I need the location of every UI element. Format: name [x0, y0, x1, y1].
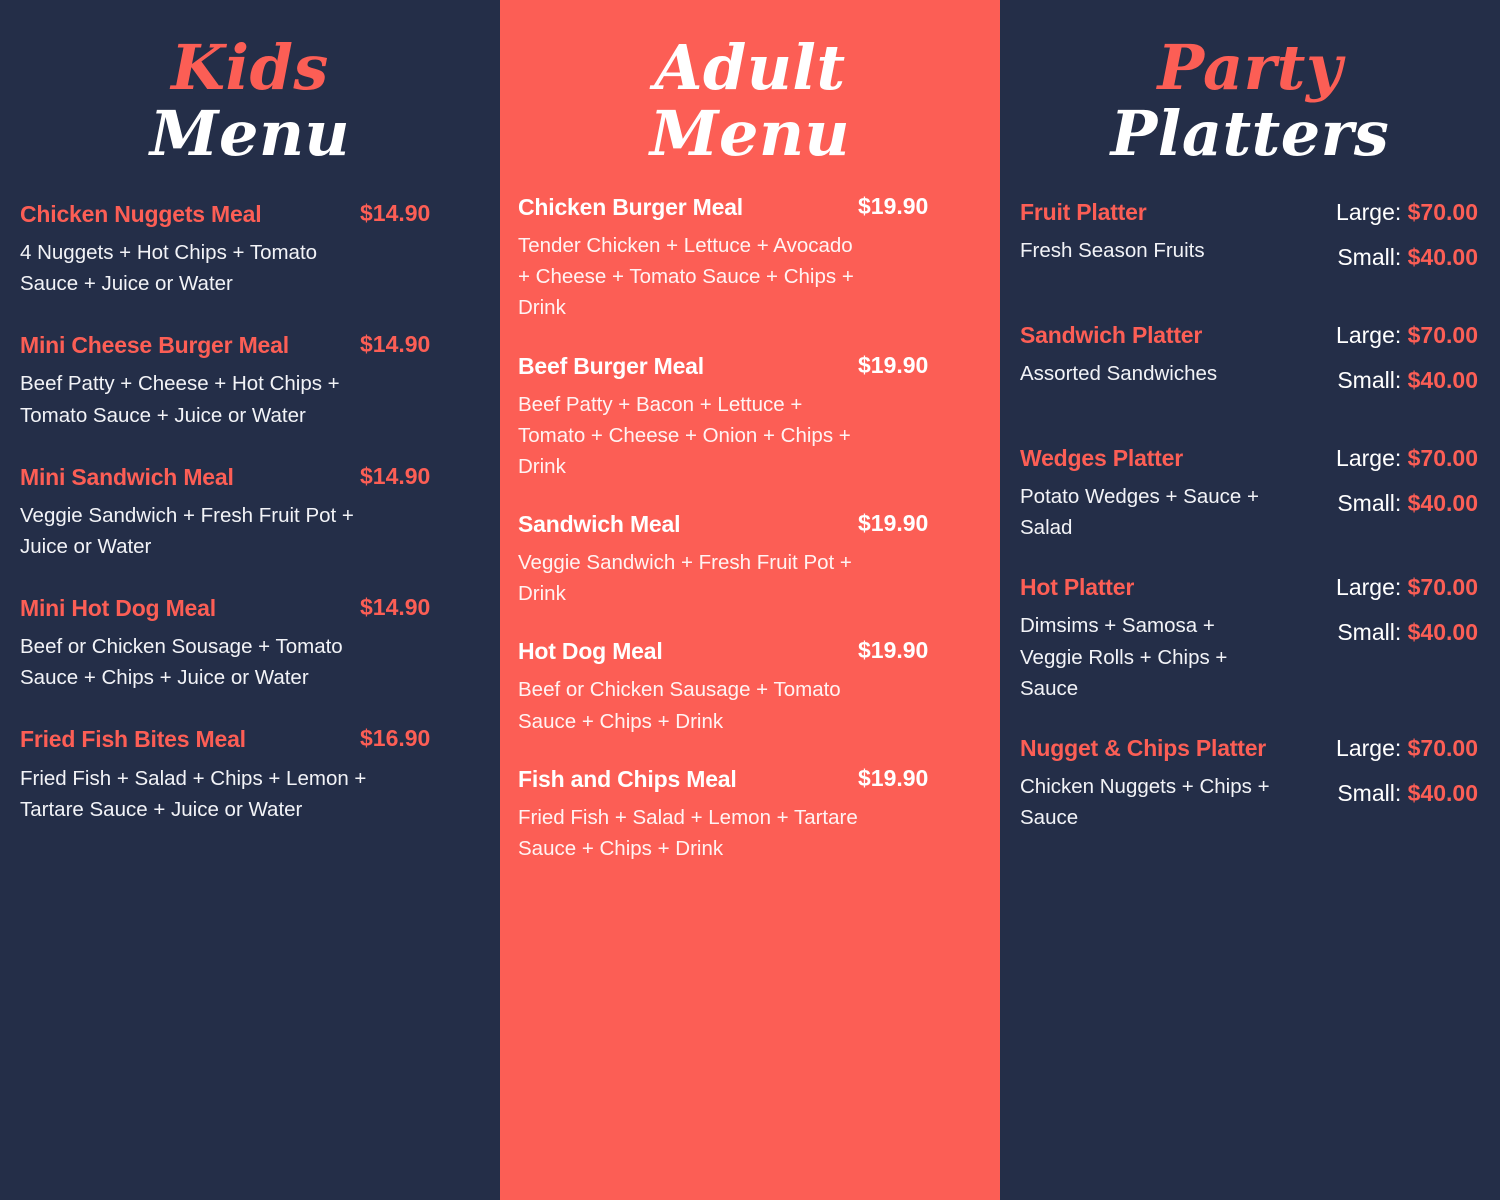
menu-item-name: Chicken Burger Meal	[518, 193, 858, 221]
kids-menu-title: Kids Menu	[0, 0, 500, 163]
menu-item-price: $14.90	[360, 200, 478, 227]
menu-item[interactable]: Fried Fish Bites Meal $16.90 Fried Fish …	[20, 725, 478, 824]
platter-item-name: Fruit Platter	[1020, 198, 1282, 226]
menu-item-header: Chicken Nuggets Meal $14.90	[20, 200, 478, 228]
party-platters-column: Party Platters Fruit Platter Fresh Seaso…	[1000, 0, 1500, 1200]
menu-item-description: Veggie Sandwich + Fresh Fruit Pot + Drin…	[518, 547, 868, 609]
platter-prices: Large: $70.00 Small: $40.00	[1282, 198, 1478, 291]
platter-row: Fruit Platter Fresh Season Fruits Large:…	[1020, 198, 1478, 291]
platter-row: Sandwich Platter Assorted Sandwiches Lar…	[1020, 321, 1478, 414]
platter-item[interactable]: Hot Platter Dimsims + Samosa + Veggie Ro…	[1020, 573, 1478, 704]
menu-item-name: Mini Cheese Burger Meal	[20, 331, 360, 359]
platter-item-name: Wedges Platter	[1020, 444, 1282, 472]
platter-large-price: $70.00	[1408, 322, 1478, 348]
menu-item[interactable]: Sandwich Meal $19.90 Veggie Sandwich + F…	[518, 510, 978, 609]
platter-info: Nugget & Chips Platter Chicken Nuggets +…	[1020, 734, 1282, 833]
platter-item-description: Fresh Season Fruits	[1020, 235, 1282, 266]
platter-price-large: Large: $70.00	[1282, 324, 1478, 347]
kids-item-list: Chicken Nuggets Meal $14.90 4 Nuggets + …	[0, 200, 500, 825]
menu-item-name: Chicken Nuggets Meal	[20, 200, 360, 228]
platter-small-label: Small:	[1337, 780, 1401, 806]
menu-item-name: Hot Dog Meal	[518, 637, 858, 665]
menu-item-name: Fish and Chips Meal	[518, 765, 858, 793]
platter-price-large: Large: $70.00	[1282, 447, 1478, 470]
menu-item-header: Hot Dog Meal $19.90	[518, 637, 978, 665]
platter-price-large: Large: $70.00	[1282, 737, 1478, 760]
platter-item[interactable]: Nugget & Chips Platter Chicken Nuggets +…	[1020, 734, 1478, 833]
menu-item[interactable]: Chicken Nuggets Meal $14.90 4 Nuggets + …	[20, 200, 478, 299]
menu-item-price: $14.90	[360, 331, 478, 358]
kids-title-line-1: Kids	[0, 38, 500, 98]
platter-item-name: Sandwich Platter	[1020, 321, 1282, 349]
platter-price-large: Large: $70.00	[1282, 201, 1478, 224]
menu-item-description: 4 Nuggets + Hot Chips + Tomato Sauce + J…	[20, 237, 370, 299]
platter-item-description: Chicken Nuggets + Chips + Sauce	[1020, 771, 1282, 833]
kids-menu-column: Kids Menu Chicken Nuggets Meal $14.90 4 …	[0, 0, 500, 1200]
platter-price-large: Large: $70.00	[1282, 576, 1478, 599]
menu-item-price: $19.90	[858, 510, 976, 537]
adult-title-line-1: Adult	[500, 38, 1000, 98]
platter-large-price: $70.00	[1408, 735, 1478, 761]
platter-item[interactable]: Sandwich Platter Assorted Sandwiches Lar…	[1020, 321, 1478, 414]
platter-info: Hot Platter Dimsims + Samosa + Veggie Ro…	[1020, 573, 1282, 704]
menu-item-header: Beef Burger Meal $19.90	[518, 352, 978, 380]
kids-title-line-2: Menu	[0, 104, 500, 164]
platter-small-label: Small:	[1337, 244, 1401, 270]
platter-small-price: $40.00	[1408, 244, 1478, 270]
menu-item-price: $19.90	[858, 352, 976, 379]
menu-item-header: Fried Fish Bites Meal $16.90	[20, 725, 478, 753]
platter-row: Wedges Platter Potato Wedges + Sauce + S…	[1020, 444, 1478, 543]
menu-item-description: Beef or Chicken Sausage + Tomato Sauce +…	[518, 674, 868, 736]
platter-small-label: Small:	[1337, 619, 1401, 645]
menu-item-name: Beef Burger Meal	[518, 352, 858, 380]
adult-item-list: Chicken Burger Meal $19.90 Tender Chicke…	[500, 193, 1000, 864]
menu-item[interactable]: Mini Hot Dog Meal $14.90 Beef or Chicken…	[20, 594, 478, 693]
menu-item-description: Beef Patty + Bacon + Lettuce + Tomato + …	[518, 389, 868, 482]
platters-title-line-2: Platters	[1000, 104, 1500, 164]
platter-item[interactable]: Fruit Platter Fresh Season Fruits Large:…	[1020, 198, 1478, 291]
adult-title-line-2: Menu	[500, 104, 1000, 164]
platter-price-small: Small: $40.00	[1282, 621, 1478, 644]
platter-item-description: Assorted Sandwiches	[1020, 358, 1282, 389]
menu-item-description: Fried Fish + Salad + Chips + Lemon + Tar…	[20, 763, 370, 825]
platter-info: Fruit Platter Fresh Season Fruits	[1020, 198, 1282, 266]
menu-item[interactable]: Hot Dog Meal $19.90 Beef or Chicken Saus…	[518, 637, 978, 736]
menu-item-price: $19.90	[858, 637, 976, 664]
platter-large-price: $70.00	[1408, 574, 1478, 600]
platter-item-description: Dimsims + Samosa + Veggie Rolls + Chips …	[1020, 610, 1282, 703]
menu-item[interactable]: Mini Cheese Burger Meal $14.90 Beef Patt…	[20, 331, 478, 430]
menu-item[interactable]: Fish and Chips Meal $19.90 Fried Fish + …	[518, 765, 978, 864]
menu-item-name: Mini Sandwich Meal	[20, 463, 360, 491]
platter-large-price: $70.00	[1408, 445, 1478, 471]
menu-item-header: Mini Cheese Burger Meal $14.90	[20, 331, 478, 359]
menu-item-description: Veggie Sandwich + Fresh Fruit Pot + Juic…	[20, 500, 370, 562]
platter-item-list: Fruit Platter Fresh Season Fruits Large:…	[1000, 198, 1500, 833]
menu-item-header: Sandwich Meal $19.90	[518, 510, 978, 538]
menu-item-price: $14.90	[360, 463, 478, 490]
menu-item-header: Mini Hot Dog Meal $14.90	[20, 594, 478, 622]
menu-item-price: $19.90	[858, 765, 976, 792]
platter-price-small: Small: $40.00	[1282, 369, 1478, 392]
menu-item-header: Fish and Chips Meal $19.90	[518, 765, 978, 793]
platter-price-small: Small: $40.00	[1282, 492, 1478, 515]
platters-title-line-1: Party	[1000, 38, 1500, 98]
menu-item-name: Mini Hot Dog Meal	[20, 594, 360, 622]
platter-small-price: $40.00	[1408, 367, 1478, 393]
menu-item-header: Mini Sandwich Meal $14.90	[20, 463, 478, 491]
menu-item-price: $16.90	[360, 725, 478, 752]
menu-item-description: Beef Patty + Cheese + Hot Chips + Tomato…	[20, 368, 370, 430]
platter-info: Sandwich Platter Assorted Sandwiches	[1020, 321, 1282, 389]
adult-menu-column: Adult Menu Chicken Burger Meal $19.90 Te…	[500, 0, 1000, 1200]
platter-large-label: Large:	[1336, 322, 1401, 348]
menu-item-price: $14.90	[360, 594, 478, 621]
platter-prices: Large: $70.00 Small: $40.00	[1282, 321, 1478, 414]
platter-small-label: Small:	[1337, 490, 1401, 516]
menu-item[interactable]: Chicken Burger Meal $19.90 Tender Chicke…	[518, 193, 978, 324]
platter-item-description: Potato Wedges + Sauce + Salad	[1020, 481, 1282, 543]
platter-large-label: Large:	[1336, 445, 1401, 471]
platter-large-label: Large:	[1336, 735, 1401, 761]
menu-board: Kids Menu Chicken Nuggets Meal $14.90 4 …	[0, 0, 1500, 1200]
platter-item[interactable]: Wedges Platter Potato Wedges + Sauce + S…	[1020, 444, 1478, 543]
platter-price-small: Small: $40.00	[1282, 782, 1478, 805]
platter-item-name: Nugget & Chips Platter	[1020, 734, 1282, 762]
platter-large-label: Large:	[1336, 574, 1401, 600]
platter-prices: Large: $70.00 Small: $40.00	[1282, 734, 1478, 827]
menu-item[interactable]: Mini Sandwich Meal $14.90 Veggie Sandwic…	[20, 463, 478, 562]
platter-large-label: Large:	[1336, 199, 1401, 225]
menu-item-description: Beef or Chicken Sousage + Tomato Sauce +…	[20, 631, 370, 693]
platter-item-name: Hot Platter	[1020, 573, 1282, 601]
platter-small-price: $40.00	[1408, 780, 1478, 806]
platter-small-price: $40.00	[1408, 490, 1478, 516]
platter-info: Wedges Platter Potato Wedges + Sauce + S…	[1020, 444, 1282, 543]
platter-prices: Large: $70.00 Small: $40.00	[1282, 444, 1478, 537]
platter-small-label: Small:	[1337, 367, 1401, 393]
menu-item-price: $19.90	[858, 193, 976, 220]
adult-menu-title: Adult Menu	[500, 0, 1000, 163]
platter-row: Nugget & Chips Platter Chicken Nuggets +…	[1020, 734, 1478, 833]
platter-prices: Large: $70.00 Small: $40.00	[1282, 573, 1478, 666]
party-platters-title: Party Platters	[1000, 0, 1500, 163]
platter-row: Hot Platter Dimsims + Samosa + Veggie Ro…	[1020, 573, 1478, 704]
menu-item-description: Fried Fish + Salad + Lemon + Tartare Sau…	[518, 802, 868, 864]
platter-price-small: Small: $40.00	[1282, 246, 1478, 269]
menu-item[interactable]: Beef Burger Meal $19.90 Beef Patty + Bac…	[518, 352, 978, 483]
menu-item-header: Chicken Burger Meal $19.90	[518, 193, 978, 221]
menu-item-name: Sandwich Meal	[518, 510, 858, 538]
menu-item-description: Tender Chicken + Lettuce + Avocado + Che…	[518, 230, 868, 323]
platter-small-price: $40.00	[1408, 619, 1478, 645]
menu-item-name: Fried Fish Bites Meal	[20, 725, 360, 753]
platter-large-price: $70.00	[1408, 199, 1478, 225]
